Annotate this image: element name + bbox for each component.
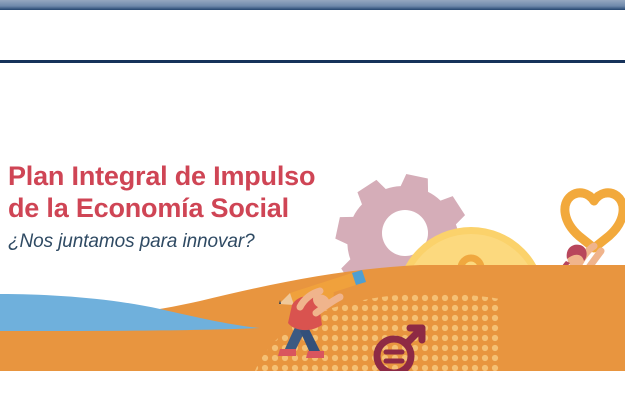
heart-icon — [565, 193, 623, 248]
page-title: Plan Integral de Impulso de la Economía … — [8, 161, 315, 225]
page-subtitle: ¿Nos juntamos para innovar? — [8, 231, 315, 253]
brand-logotype: PERTEEconomía Social y de los Cuidados — [17, 28, 347, 49]
header-gloss — [0, 0, 625, 10]
brand-subtitle: Economía Social y de los Cuidados — [100, 33, 347, 49]
title-block: Plan Integral de Impulso de la Economía … — [8, 161, 315, 253]
brand-name: PERTE — [17, 27, 95, 50]
pdf-page: PERTEEconomía Social y de los Cuidados — [0, 0, 625, 417]
hero-section: Plan Integral de Impulso de la Economía … — [0, 63, 625, 417]
header-bar: PERTEEconomía Social y de los Cuidados — [0, 0, 625, 63]
